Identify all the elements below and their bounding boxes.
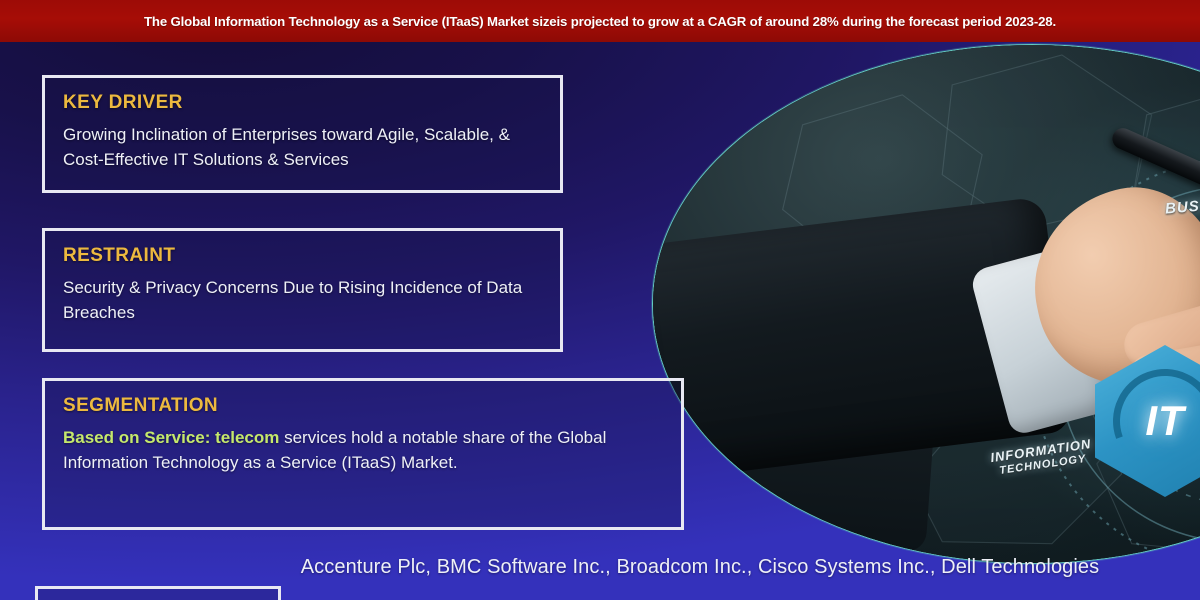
key-driver-box: KEY DRIVER Growing Inclination of Enterp…	[42, 75, 563, 193]
segmentation-body: Based on Service: telecom services hold …	[63, 425, 663, 475]
it-hexagon-label: IT	[1145, 397, 1184, 445]
restraint-body: Security & Privacy Concerns Due to Risin…	[63, 275, 542, 325]
infographic-root: The Global Information Technology as a S…	[0, 0, 1200, 600]
headline-banner: The Global Information Technology as a S…	[0, 0, 1200, 42]
key-driver-body: Growing Inclination of Enterprises towar…	[63, 122, 542, 172]
restraint-box: RESTRAINT Security & Privacy Concerns Du…	[42, 228, 563, 352]
company-list: Accenture Plc, BMC Software Inc., Broadc…	[0, 556, 1200, 579]
headline-text: The Global Information Technology as a S…	[144, 14, 1056, 29]
bottom-partial-box	[35, 586, 281, 600]
segmentation-lead: Based on Service: telecom	[63, 428, 279, 447]
key-driver-title: KEY DRIVER	[63, 92, 542, 114]
restraint-title: RESTRAINT	[63, 245, 542, 267]
hero-photo: IT BUSINESS COMP DATA INFORMATION TECHNO…	[652, 44, 1200, 564]
segmentation-box: SEGMENTATION Based on Service: telecom s…	[42, 378, 684, 530]
segmentation-title: SEGMENTATION	[63, 395, 663, 417]
